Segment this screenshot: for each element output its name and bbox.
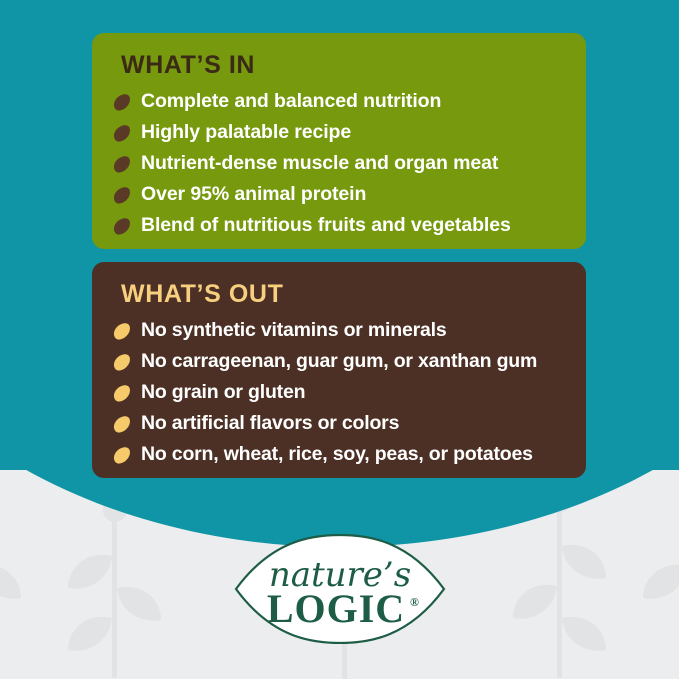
leaf-icon — [110, 121, 134, 145]
list-item-label: No carrageenan, guar gum, or xanthan gum — [141, 351, 537, 373]
leaf-icon — [110, 443, 134, 467]
leaf-icon — [110, 183, 134, 207]
leaf-icon — [110, 152, 134, 176]
list-item: Blend of nutritious fruits and vegetable… — [110, 212, 568, 240]
whats-in-title: WHAT’S IN — [121, 53, 568, 78]
list-item-label: Over 95% animal protein — [141, 184, 366, 206]
list-item-label: No synthetic vitamins or minerals — [141, 320, 447, 342]
leaf-icon — [110, 90, 134, 114]
list-item: No corn, wheat, rice, soy, peas, or pota… — [110, 441, 568, 469]
list-item-label: Highly palatable recipe — [141, 122, 351, 144]
list-item-label: No corn, wheat, rice, soy, peas, or pota… — [141, 444, 533, 466]
list-item: No artificial flavors or colors — [110, 410, 568, 438]
registered-trademark-icon: ® — [410, 595, 419, 609]
leaf-icon — [110, 381, 134, 405]
list-item-label: Complete and balanced nutrition — [141, 91, 441, 113]
list-item: No carrageenan, guar gum, or xanthan gum — [110, 348, 568, 376]
whats-in-list: Complete and balanced nutrition Highly p… — [110, 88, 568, 240]
list-item: Over 95% animal protein — [110, 181, 568, 209]
leaf-icon — [110, 350, 134, 374]
product-infographic: WHAT’S IN Complete and balanced nutritio… — [0, 0, 679, 679]
list-item: Highly palatable recipe — [110, 119, 568, 147]
list-item-label: No grain or gluten — [141, 382, 305, 404]
logo-word-text: LOGIC — [267, 586, 405, 631]
list-item-label: No artificial flavors or colors — [141, 413, 399, 435]
list-item: Nutrient-dense muscle and organ meat — [110, 150, 568, 178]
whats-in-card: WHAT’S IN Complete and balanced nutritio… — [92, 33, 586, 249]
list-item: No grain or gluten — [110, 379, 568, 407]
list-item: No synthetic vitamins or minerals — [110, 317, 568, 345]
whats-out-list: No synthetic vitamins or minerals No car… — [110, 317, 568, 469]
leaf-icon — [110, 412, 134, 436]
whats-out-card: WHAT’S OUT No synthetic vitamins or mine… — [92, 262, 586, 478]
leaf-icon — [110, 214, 134, 238]
brand-logo: nature’s LOGIC ® — [232, 534, 448, 644]
list-item-label: Nutrient-dense muscle and organ meat — [141, 153, 498, 175]
list-item: Complete and balanced nutrition — [110, 88, 568, 116]
leaf-icon — [110, 319, 134, 343]
whats-out-title: WHAT’S OUT — [121, 282, 568, 307]
list-item-label: Blend of nutritious fruits and vegetable… — [141, 215, 511, 237]
